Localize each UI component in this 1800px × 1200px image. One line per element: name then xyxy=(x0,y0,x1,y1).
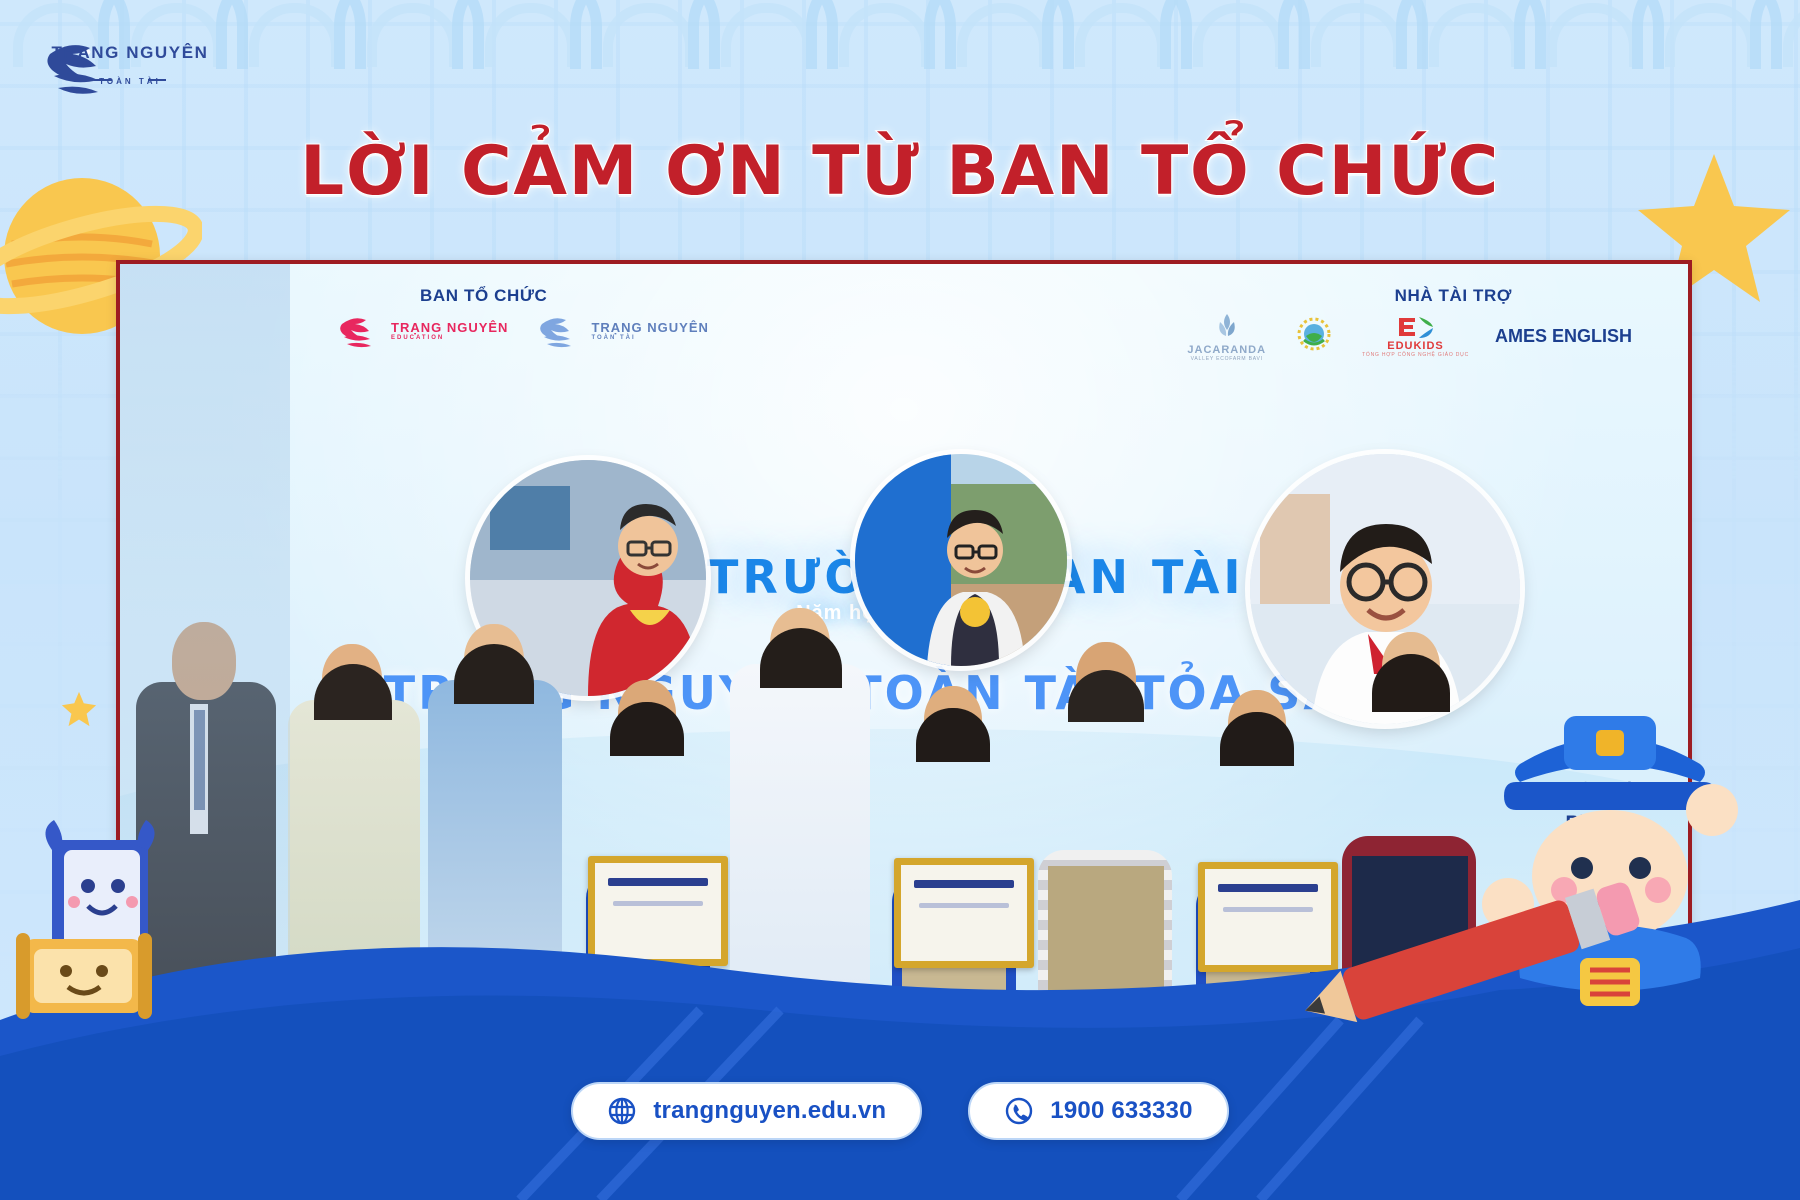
cloud-band-decoration xyxy=(0,0,1800,120)
sponsor-edukids: EDUKIDS TỔNG HỢP CÔNG NGHỆ GIÁO DỤC xyxy=(1362,314,1469,358)
organizer-logo-name: TRẠNG NGUYÊN xyxy=(591,321,708,334)
globe-hands-icon xyxy=(1292,314,1336,358)
sponsor-name: EDUKIDS xyxy=(1387,340,1444,352)
scroll-mascot-icon xyxy=(10,905,160,1035)
star-small-icon xyxy=(60,690,98,728)
organizer-label: BAN TỔ CHỨC xyxy=(420,286,547,306)
page-title: LỜI CẢM ƠN TỪ BAN TỔ CHỨC xyxy=(0,132,1800,211)
edukids-mark-icon xyxy=(1393,314,1439,340)
sponsor-jacaranda: JACARANDA VALLEY ECOFARM BAVI xyxy=(1187,310,1266,362)
contact-bar: trangnguyen.edu.vn 1900 633330 xyxy=(0,1082,1800,1140)
sponsor-ames-english: AMES ENGLISH xyxy=(1495,327,1632,346)
phone-icon xyxy=(1004,1096,1034,1126)
bird-icon xyxy=(338,314,384,348)
website-pill[interactable]: trangnguyen.edu.vn xyxy=(571,1082,922,1140)
brand-logo-sub: TOÀN TÀI xyxy=(99,77,161,86)
sponsor-name: AMES ENGLISH xyxy=(1495,327,1632,346)
sponsor-sub: TỔNG HỢP CÔNG NGHỆ GIÁO DỤC xyxy=(1362,352,1469,358)
phone-pill[interactable]: 1900 633330 xyxy=(968,1082,1228,1140)
sponsor-sub: VALLEY ECOFARM BAVI xyxy=(1191,356,1263,362)
brand-logo: TRẠNG NGUYÊN TOÀN TÀI xyxy=(36,28,206,106)
leaf-icon xyxy=(1210,310,1244,344)
poster-canvas: TRẠNG NGUYÊN TOÀN TÀI LỜI CẢM ƠN TỪ BAN … xyxy=(0,0,1800,1200)
sponsor-label: NHÀ TÀI TRỢ xyxy=(1395,286,1512,306)
sponsor-logos: JACARANDA VALLEY ECOFARM BAVI EDUKIDS xyxy=(1187,310,1632,362)
bird-icon xyxy=(538,314,584,348)
website-text: trangnguyen.edu.vn xyxy=(653,1097,886,1125)
organizer-logos: TRẠNG NGUYÊN EDUCATION TRẠNG NGUYÊN TOÀN… xyxy=(338,314,709,348)
organizer-logo-trang-nguyen-education: TRẠNG NGUYÊN EDUCATION xyxy=(338,314,508,348)
brand-logo-name: TRẠNG NGUYÊN xyxy=(51,43,206,62)
organizer-logo-trang-nguyen-toan-tai: TRẠNG NGUYÊN TOÀN TÀI xyxy=(538,314,708,348)
globe-icon xyxy=(607,1096,637,1126)
organizer-logo-sub: EDUCATION xyxy=(391,335,508,341)
organizer-logo-sub: TOÀN TÀI xyxy=(591,335,708,341)
sponsor-globe-hands xyxy=(1292,314,1336,358)
organizer-logo-name: TRẠNG NGUYÊN xyxy=(391,321,508,334)
sponsor-name: JACARANDA xyxy=(1187,344,1266,356)
phone-text: 1900 633330 xyxy=(1050,1097,1192,1125)
